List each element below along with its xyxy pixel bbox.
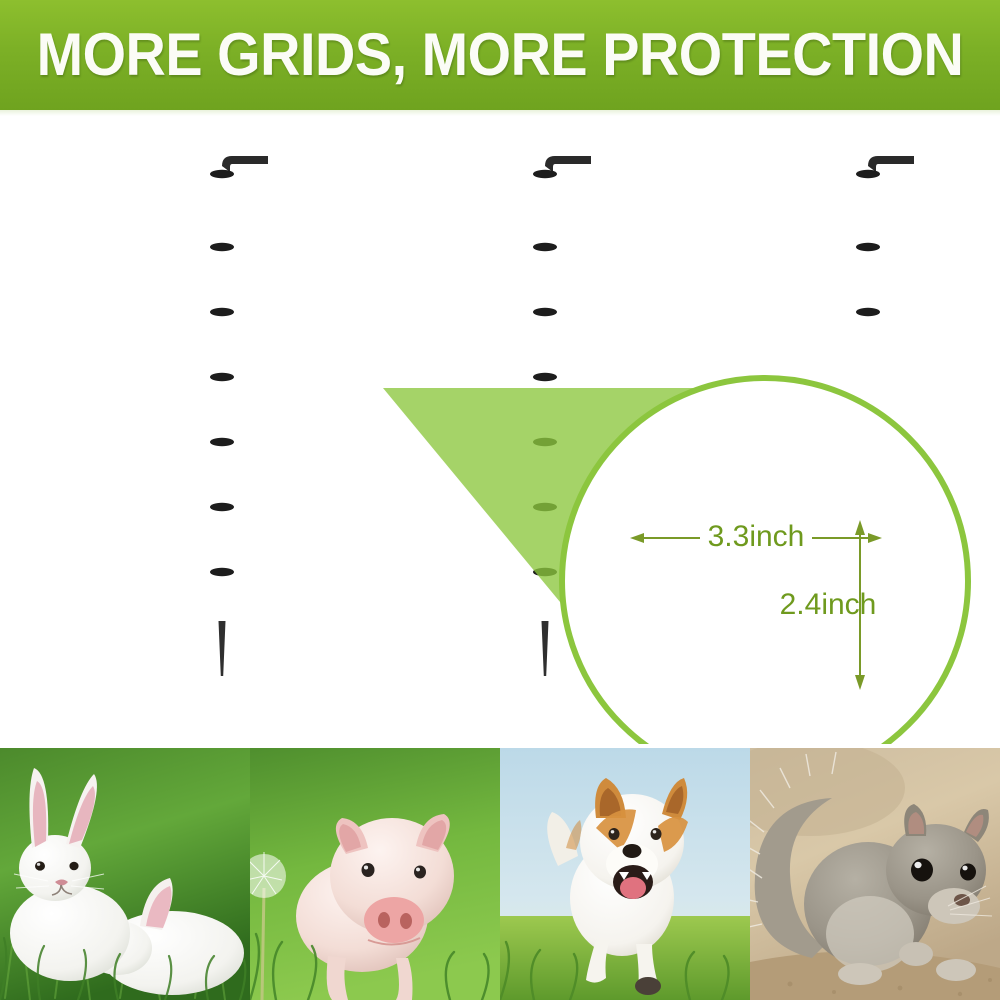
page-title: MORE GRIDS, MORE PROTECTION xyxy=(35,25,965,85)
squirrel-photo xyxy=(750,748,1000,1000)
photo-squirrel xyxy=(750,748,1000,1000)
product-infographic: MORE GRIDS, MORE PROTECTION xyxy=(0,0,1000,1000)
fence-post xyxy=(210,156,268,676)
header-banner: MORE GRIDS, MORE PROTECTION xyxy=(0,0,1000,110)
fence-diagram: 3.3inch 2.4inch xyxy=(0,116,1000,744)
animal-photo-strip xyxy=(0,748,1000,1000)
rabbit-photo xyxy=(0,748,250,1000)
fence-illustration: 3.3inch 2.4inch xyxy=(0,116,1000,744)
piglet-photo xyxy=(250,748,500,1000)
photo-dog xyxy=(500,748,750,1000)
dimension-height-label: 2.4inch xyxy=(780,588,877,621)
photo-rabbits xyxy=(0,748,250,1000)
dimension-width-label: 3.3inch xyxy=(708,520,805,553)
photo-piglet xyxy=(250,748,500,1000)
dog-photo xyxy=(500,748,750,1000)
